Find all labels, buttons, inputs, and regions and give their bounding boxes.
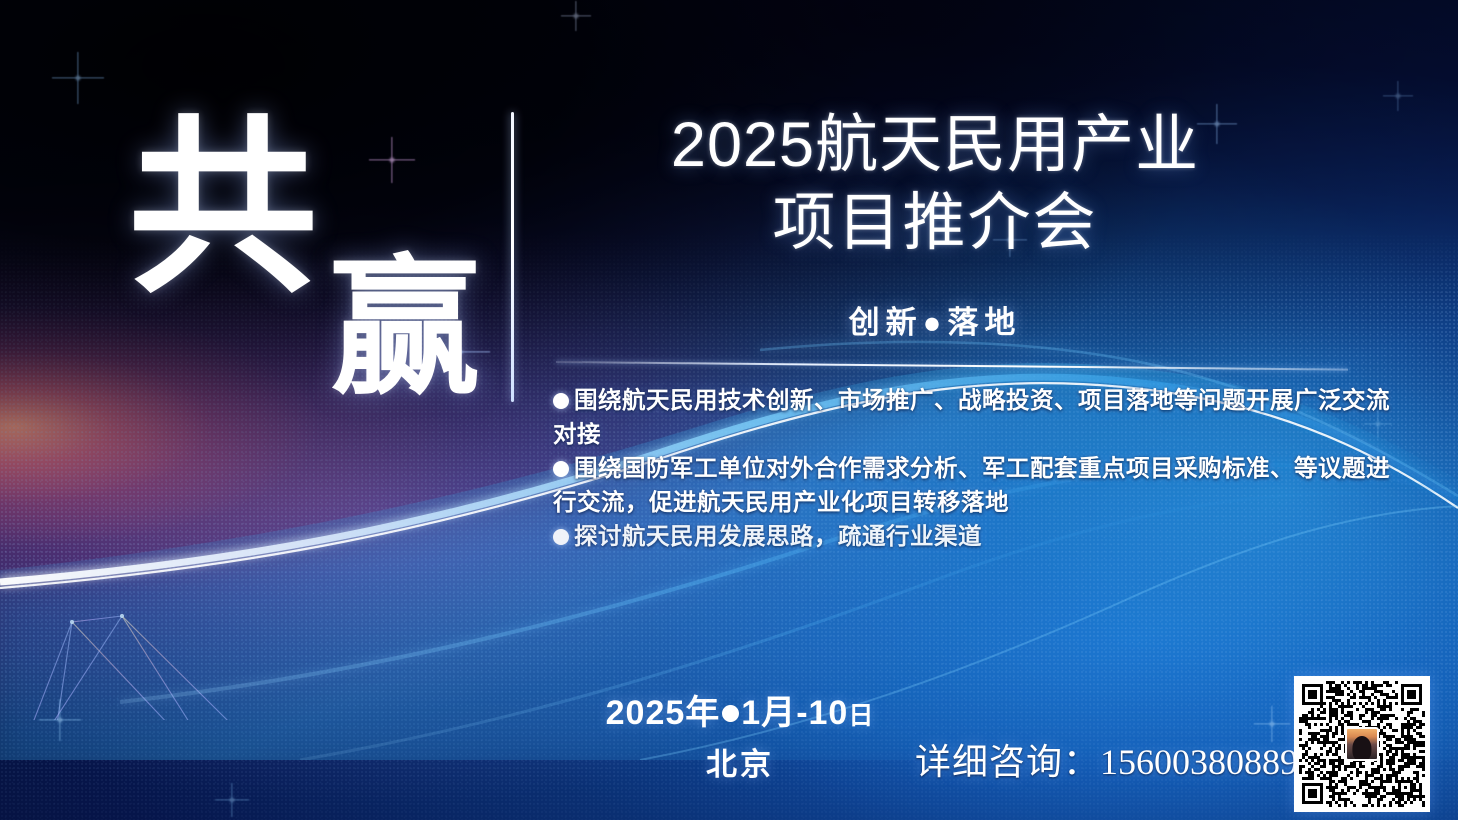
star-flare-icon [561, 1, 591, 31]
polygon-network-graphic [0, 300, 640, 720]
vertical-divider-icon [511, 112, 514, 402]
list-item: 围绕国防军工单位对外合作需求分析、军工配套重点项目采购标准、等议题进行交流，促进… [553, 452, 1413, 520]
list-item-text: 围绕航天民用技术创新、市场推广、战略投资、项目落地等问题开展广泛交流对接 [553, 388, 1390, 448]
contact-phone: 15600380889 [1100, 742, 1298, 782]
star-flare-icon [369, 137, 415, 183]
star-flare-icon [39, 699, 81, 741]
page-title: 2025航天民用产业 项目推介会 [555, 106, 1315, 262]
star-flare-icon [1383, 81, 1413, 111]
network-nodes [1, 614, 630, 720]
contact-label: 详细咨询： [915, 742, 1100, 782]
list-item: 围绕航天民用技术创新、市场推广、战略投资、项目落地等问题开展广泛交流对接 [553, 384, 1413, 452]
qr-center-avatar [1345, 727, 1379, 761]
date-separator-dot-icon [722, 705, 739, 722]
poster-canvas: 共 赢 2025航天民用产业 项目推介会 创新●落地 围绕航天民用技术创新、市场… [0, 0, 1458, 820]
agenda-list: 围绕航天民用技术创新、市场推广、战略投资、项目落地等问题开展广泛交流对接 围绕国… [553, 384, 1413, 554]
star-flare-icon [215, 783, 249, 817]
star-flare-icon [52, 52, 104, 104]
event-date-block: 2025年1月-10日 北京 [600, 693, 880, 784]
list-item: 探讨航天民用发展思路，疏通行业渠道 [553, 520, 1413, 554]
calligraphy-char-gong: 共 [128, 116, 318, 306]
horizontal-divider-icon [556, 361, 1348, 371]
network-edges [3, 616, 628, 720]
bullet-dot-icon [553, 461, 569, 477]
calligraphy-char-ying: 赢 [330, 255, 480, 405]
event-day-unit: 日 [848, 702, 874, 730]
bullet-dot-icon [553, 529, 569, 545]
event-date-range: 1月-10 [741, 694, 848, 732]
headline-line-1: 2025航天民用产业 [555, 106, 1315, 184]
list-item-text: 探讨航天民用发展思路，疏通行业渠道 [574, 524, 982, 550]
qr-code[interactable] [1294, 676, 1430, 812]
subtitle: 创新●落地 [555, 297, 1315, 342]
contact-line: 详细咨询：15600380889 [915, 733, 1298, 785]
event-city: 北京 [600, 739, 880, 784]
headline-line-2: 项目推介会 [555, 184, 1315, 262]
bullet-dot-icon [553, 393, 569, 409]
list-item-text: 围绕国防军工单位对外合作需求分析、军工配套重点项目采购标准、等议题进行交流，促进… [553, 456, 1390, 516]
event-date: 2025年1月-10日 [600, 693, 880, 736]
event-year: 2025年 [606, 694, 721, 732]
